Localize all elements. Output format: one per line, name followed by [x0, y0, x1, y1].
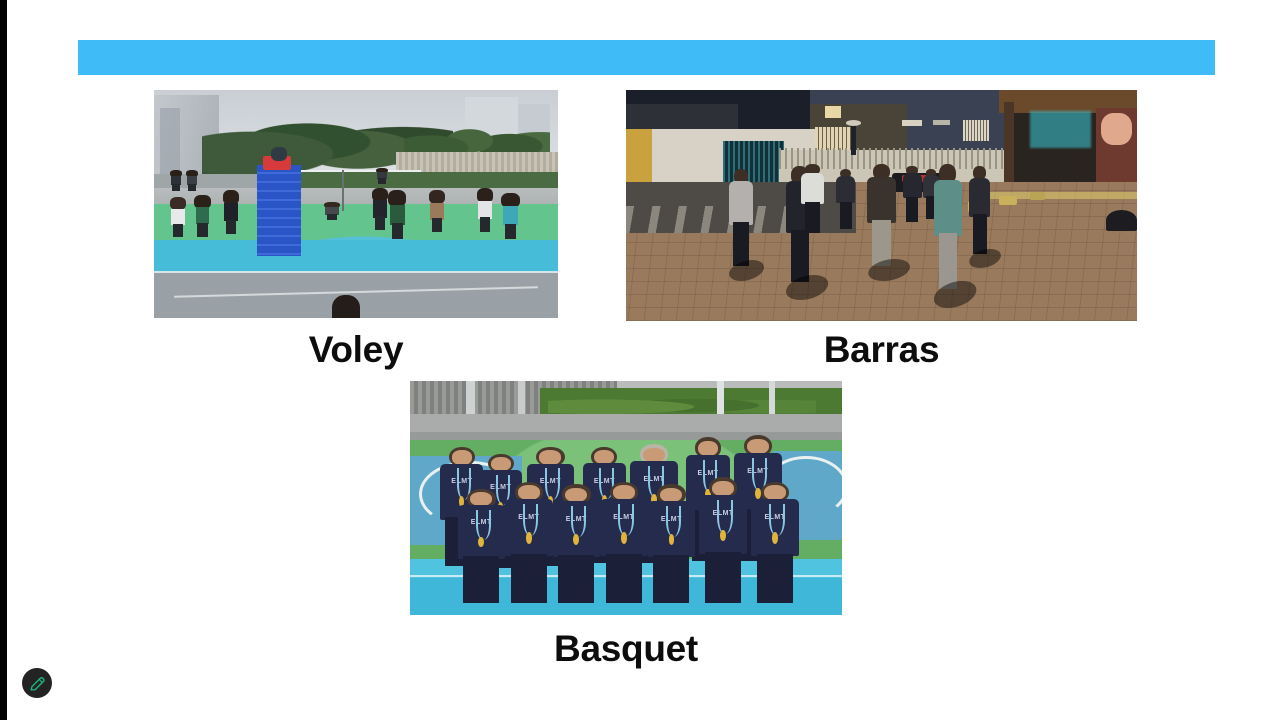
voley-court-line-1: [154, 271, 558, 273]
voley-player: [388, 190, 406, 238]
voley-scene: [154, 90, 558, 318]
barras-scene: [626, 90, 1137, 321]
barras-window-5-grid: [963, 120, 989, 141]
photo-basquet[interactable]: ELMT ELMT ELMT ELMT ELMT ELMT ELMT ELMT …: [410, 381, 842, 615]
basquet-player: ELMT: [648, 484, 696, 606]
title-banner[interactable]: [78, 40, 1215, 75]
voley-foreground-head: [332, 295, 360, 318]
basquet-player: ELMT: [553, 484, 601, 606]
voley-player: [194, 195, 210, 236]
barras-kiosk-sign-glow: [1030, 111, 1091, 148]
voley-player: [170, 197, 186, 236]
voley-referee: [271, 147, 287, 161]
barras-lamp-post: [851, 122, 856, 154]
barras-person: [968, 166, 991, 254]
barras-person: [902, 166, 922, 221]
basquet-player: ELMT: [505, 482, 553, 606]
voley-net: [299, 170, 420, 172]
barras-person: [800, 164, 826, 233]
edit-slide-button[interactable]: [22, 668, 52, 698]
barras-bollard-2: [999, 196, 1017, 205]
barras-roof-left: [626, 104, 738, 132]
basquet-scene: ELMT ELMT ELMT ELMT ELMT ELMT ELMT ELMT …: [410, 381, 842, 615]
caption-barras: Barras: [626, 328, 1137, 372]
basquet-player: ELMT: [600, 482, 648, 606]
barras-window-2-grid: [815, 127, 856, 150]
caption-voley: Voley: [154, 328, 558, 372]
basquet-player: ELMT: [458, 489, 506, 606]
voley-spectator: [186, 170, 198, 191]
voley-player: [429, 190, 445, 231]
voley-player-seated: [324, 202, 340, 220]
barras-person: [836, 169, 856, 229]
barras-person: [866, 164, 897, 266]
barras-window-1: [825, 106, 840, 118]
photo-voley[interactable]: [154, 90, 558, 318]
voley-spectator: [376, 168, 388, 184]
pencil-icon: [29, 675, 46, 692]
voley-spectator: [170, 170, 182, 191]
barras-person: [728, 169, 754, 266]
barras-lamp-head: [846, 120, 861, 126]
barras-poster-face: [1101, 113, 1132, 145]
voley-player: [223, 190, 239, 233]
barras-bollard-4: [1106, 210, 1137, 231]
caption-basquet: Basquet: [410, 627, 842, 671]
barras-window-4: [933, 120, 951, 125]
barras-curb: [973, 192, 1137, 199]
barras-person: [933, 164, 964, 289]
basquet-player: ELMT: [699, 477, 747, 606]
voley-net-post: [342, 170, 344, 211]
photo-barras[interactable]: [626, 90, 1137, 321]
left-edge-strip: [0, 0, 7, 720]
presentation-slide: Voley: [0, 0, 1280, 720]
voley-referee-stand-rungs: [257, 165, 301, 256]
voley-player: [477, 188, 493, 231]
barras-wall-left-accent: [626, 129, 652, 182]
barras-window-3: [902, 120, 922, 126]
voley-player: [501, 193, 519, 239]
basquet-player: ELMT: [751, 482, 799, 606]
voley-player: [372, 188, 388, 229]
barras-bollard-3: [1030, 192, 1045, 200]
voley-hedge: [291, 172, 558, 188]
